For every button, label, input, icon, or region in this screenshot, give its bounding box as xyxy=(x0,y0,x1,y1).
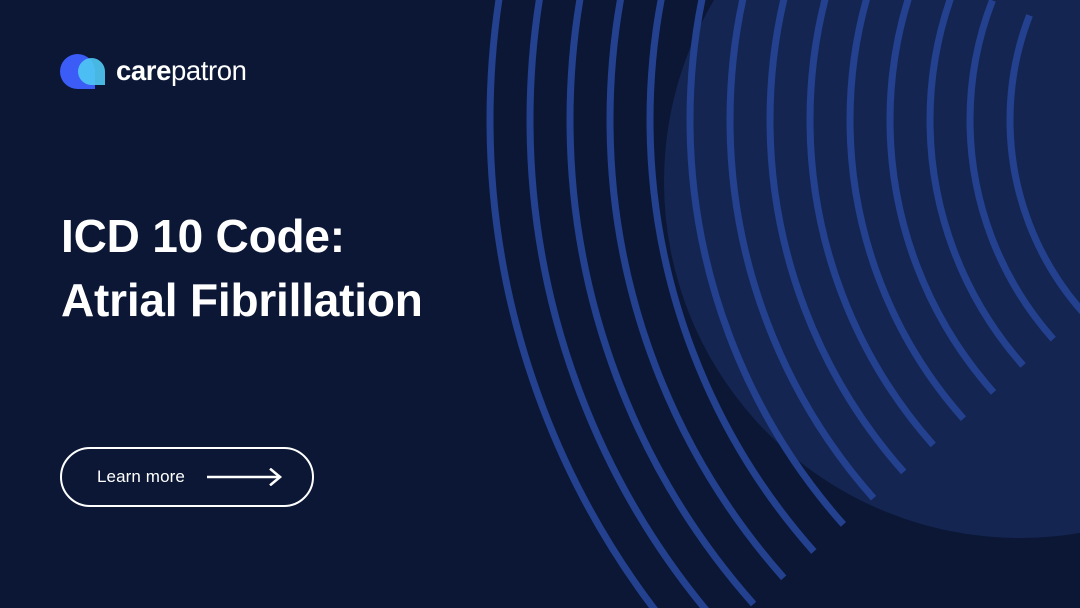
decorative-arc xyxy=(730,0,1080,608)
decorative-arc xyxy=(610,0,1080,608)
decorative-circle xyxy=(664,0,1080,538)
decorative-arc xyxy=(850,0,1080,570)
decorative-arc xyxy=(1010,0,1080,410)
carepatron-logo[interactable]: carepatron xyxy=(60,50,247,92)
decorative-arc xyxy=(770,0,1080,608)
page-title-line-2: Atrial Fibrillation xyxy=(61,268,661,332)
learn-more-label: Learn more xyxy=(97,467,185,487)
decorative-arc xyxy=(650,0,1080,608)
decorative-arc xyxy=(690,0,1080,608)
logo-text-bold: care xyxy=(116,55,171,86)
banner-root: carepatron ICD 10 Code: Atrial Fibrillat… xyxy=(0,0,1080,608)
learn-more-button[interactable]: Learn more xyxy=(60,447,314,507)
decorative-arc xyxy=(810,0,1080,608)
logo-text-light: patron xyxy=(171,55,247,86)
logo-blob-right xyxy=(78,58,105,85)
carepatron-logo-mark xyxy=(60,52,107,91)
decorative-arc xyxy=(930,0,1080,490)
arrow-right-icon xyxy=(207,468,285,486)
decorative-arc xyxy=(890,0,1080,530)
carepatron-logo-text: carepatron xyxy=(116,57,247,86)
decorative-arc xyxy=(970,0,1080,450)
page-title: ICD 10 Code: Atrial Fibrillation xyxy=(61,204,661,332)
page-title-line-1: ICD 10 Code: xyxy=(61,204,661,268)
